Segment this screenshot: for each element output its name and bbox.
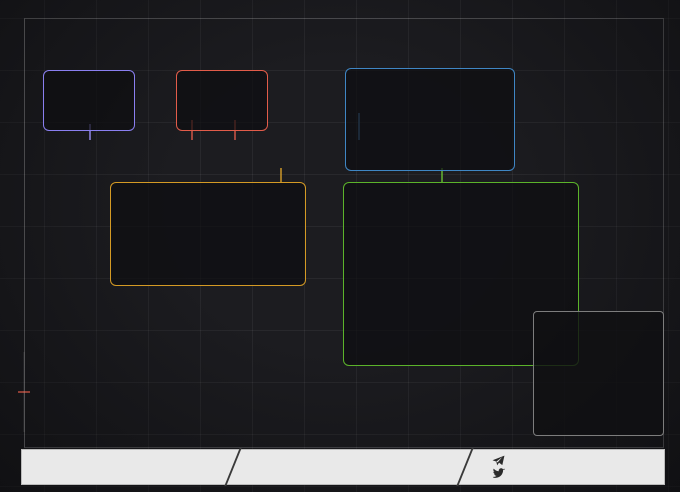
info-box-2 (176, 70, 268, 131)
footer-social (484, 450, 664, 484)
usage-row (36, 388, 516, 412)
footer-divider-2 (444, 450, 484, 484)
legend-box (533, 311, 664, 436)
usage-row (36, 419, 516, 443)
twitter-row[interactable] (492, 468, 664, 479)
box5-spacer-1 (352, 247, 570, 255)
footer-middle-label (252, 450, 444, 484)
twitter-icon (492, 468, 505, 479)
telegram-icon (492, 455, 505, 466)
footer-brand (22, 450, 212, 484)
box4-spacer (119, 247, 297, 255)
telegram-row[interactable] (492, 455, 664, 466)
info-box-4 (110, 182, 306, 286)
box3-spacer (354, 133, 506, 140)
usage-examples (36, 357, 516, 450)
info-box-3 (345, 68, 515, 171)
footer-divider-1 (212, 450, 252, 484)
footer-bar (22, 450, 664, 484)
info-box-1 (43, 70, 135, 131)
